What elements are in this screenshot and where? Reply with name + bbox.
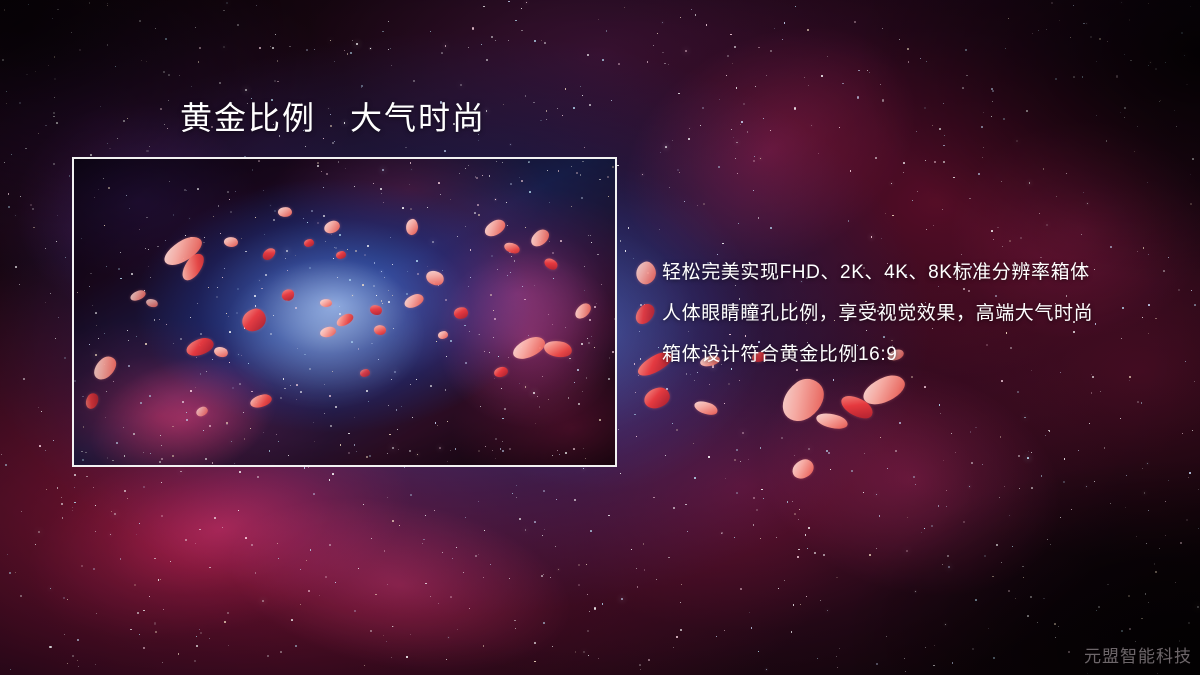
body-text-block: 轻松完美实现FHD、2K、4K、8K标准分辨率箱体 人体眼睛瞳孔比例，享受视觉效… xyxy=(662,252,1182,375)
panel-vignette xyxy=(74,159,615,465)
body-line: 轻松完美实现FHD、2K、4K、8K标准分辨率箱体 xyxy=(662,252,1182,293)
body-line: 人体眼睛瞳孔比例，享受视觉效果，高端大气时尚 xyxy=(662,293,1182,334)
body-line: 箱体设计符合黄金比例16:9 xyxy=(662,334,1182,375)
presentation-slide: 黄金比例 大气时尚 轻松完美实现FHD、2K、4K、8K标准分辨率箱体 人体眼睛… xyxy=(0,0,1200,675)
watermark: 元盟智能科技 xyxy=(1084,642,1192,667)
image-panel[interactable] xyxy=(72,157,617,467)
page-title: 黄金比例 大气时尚 xyxy=(180,98,486,138)
